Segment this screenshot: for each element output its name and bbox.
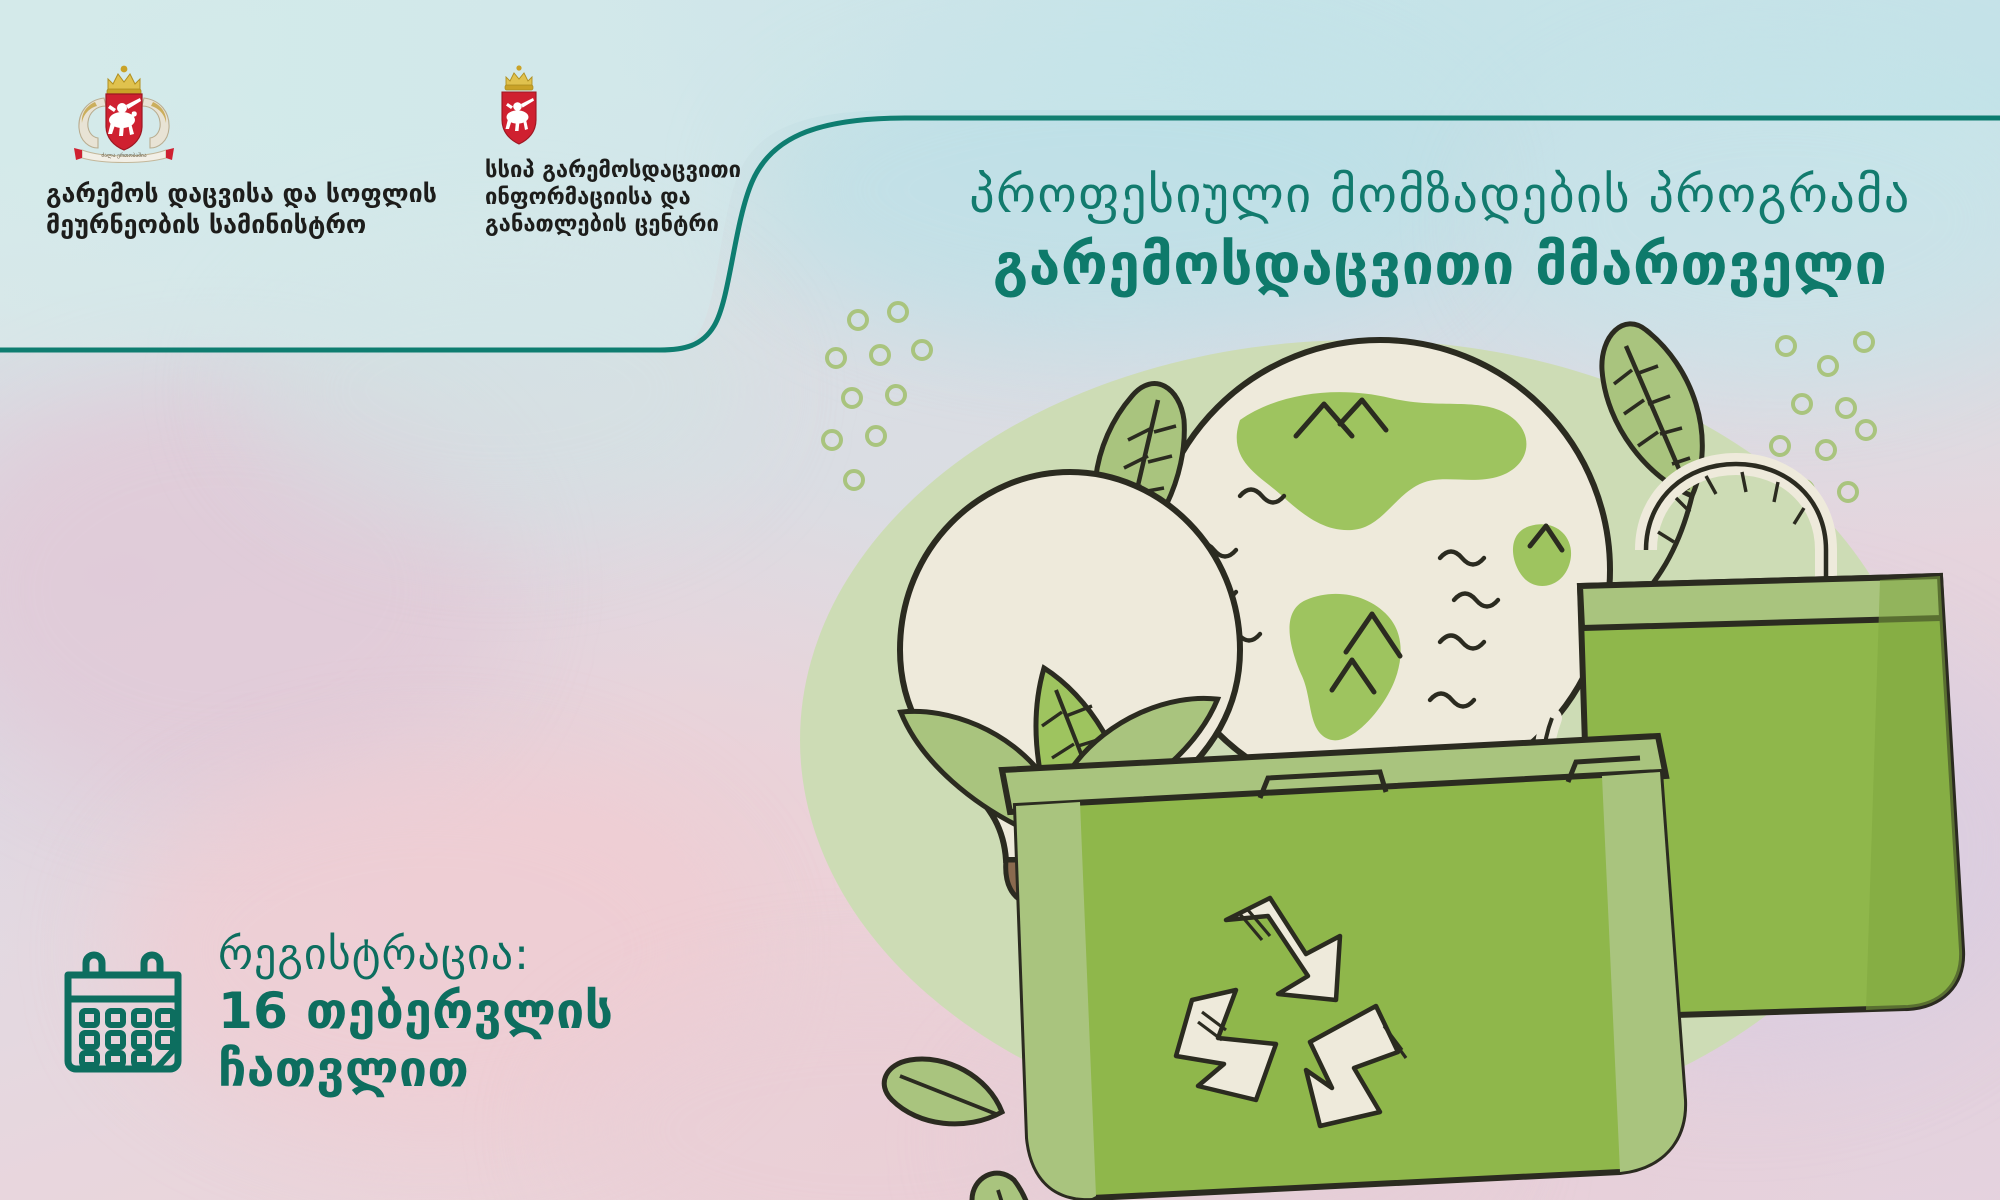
leaf-icon	[884, 1059, 1002, 1124]
program-title-line1: პროფესიული მომზადების პროგრამა	[880, 168, 2000, 223]
program-title-line2: გარემოსდაცვითი მმართველი	[880, 233, 2000, 299]
georgia-lesser-coat-of-arms-icon	[485, 62, 553, 148]
logo-center: სსიპ გარემოსდაცვითი ინფორმაციისა და განა…	[485, 62, 815, 238]
registration-text: რეგისტრაცია: 16 თებერვლის ჩათვლით	[218, 930, 613, 1098]
georgia-greater-coat-of-arms-icon: ძალა ერთობაშია	[64, 60, 184, 165]
calendar-icon	[58, 949, 188, 1079]
poster-root: ძალა ერთობაშია გარემოს დაცვისა და სოფლის…	[0, 0, 2000, 1200]
logo-ministry-caption: გარემოს დაცვისა და სოფლის მეურნეობის სამ…	[46, 179, 466, 240]
logo-group: ძალა ერთობაშია გარემოს დაცვისა და სოფლის…	[0, 0, 900, 300]
eco-recycling-illustration	[740, 300, 2000, 1200]
registration-block: რეგისტრაცია: 16 თებერვლის ჩათვლით	[58, 930, 613, 1098]
registration-date: 16 თებერვლის ჩათვლით	[218, 983, 613, 1098]
recycling-bin-icon	[1002, 736, 1684, 1198]
program-title: პროფესიული მომზადების პროგრამა გარემოსდა…	[880, 168, 2000, 299]
leaf-icon	[972, 1173, 1034, 1200]
registration-label: რეგისტრაცია:	[218, 930, 613, 979]
logo-ministry: ძალა ერთობაშია გარემოს დაცვისა და სოფლის…	[46, 60, 466, 240]
decorative-dots	[823, 303, 931, 489]
logo-center-caption: სსიპ გარემოსდაცვითი ინფორმაციისა და განა…	[485, 158, 815, 238]
svg-text:ძალა ერთობაშია: ძალა ერთობაშია	[101, 152, 146, 159]
